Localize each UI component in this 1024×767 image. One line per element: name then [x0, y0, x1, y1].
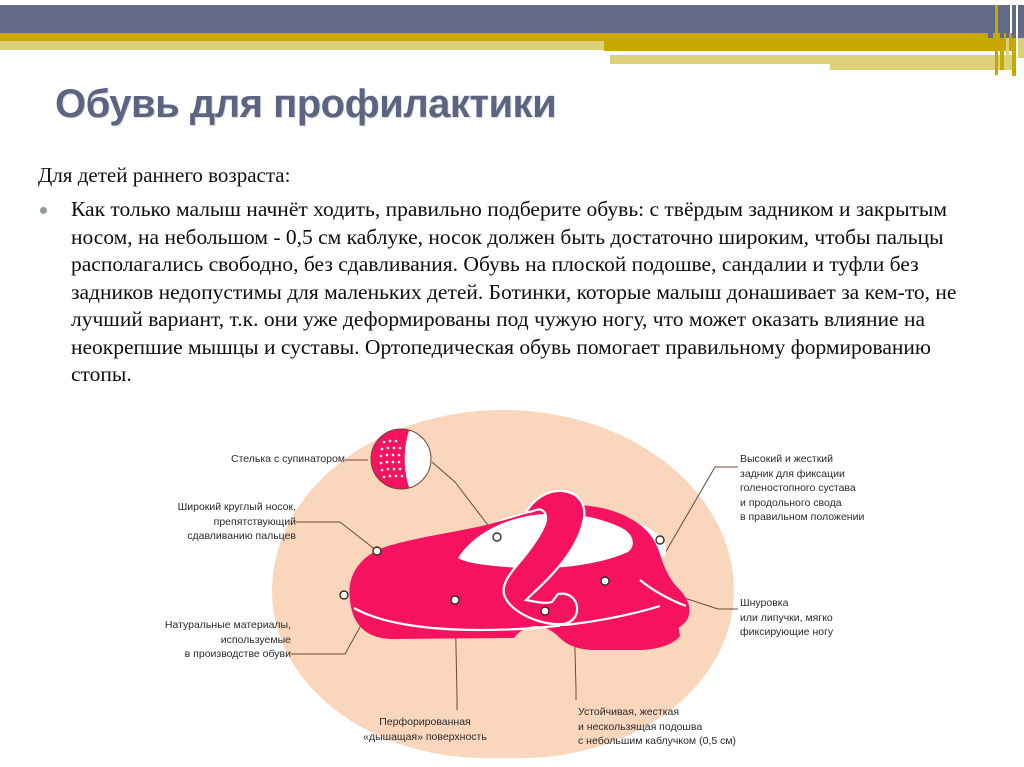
label-materials: Натуральные материалы, используемые в пр… [105, 618, 291, 662]
bullet-marker-icon [40, 207, 47, 214]
stripe-8 [1012, 38, 1016, 76]
label-heel-counter: Высокий и жесткий задник для фиксации го… [740, 452, 990, 525]
stripe-10 [1018, 38, 1024, 58]
label-perforation: Перфорированная «дышащая» поверхность [330, 715, 520, 744]
stripe-3 [1000, 5, 1004, 38]
page-title: Обувь для профилактики [55, 82, 556, 127]
bullet-list: Как только малыш начнёт ходить, правильн… [38, 196, 968, 389]
stripe-5 [1006, 5, 1009, 38]
lead-text: Для детей раннего возраста: [38, 163, 290, 188]
header-gold-light-bar-left [0, 41, 614, 50]
header-gold-light-bar-right [610, 55, 1015, 64]
label-sole: Устойчивая, жесткая и нескользящая подош… [578, 705, 828, 749]
label-fastening: Шнуровка или липучки, мягко фиксирующие … [740, 596, 990, 640]
label-insole: Стелька с супинатором [150, 452, 345, 467]
stripe-9 [1018, 5, 1024, 38]
stripe-6 [1006, 38, 1009, 63]
stripe-2 [995, 5, 998, 75]
bullet-item-text: Как только малыш начнёт ходить, правильн… [71, 196, 968, 389]
header-gold-bar-right [604, 41, 1015, 51]
shoe-illustration [330, 450, 710, 680]
header-decoration [0, 0, 1024, 90]
stripe-1 [988, 5, 993, 38]
stripe-4 [1000, 38, 1004, 70]
shoe-diagram: Стелька с супинатором Широкий круглый но… [0, 400, 1024, 767]
header-vertical-stripes [988, 0, 1024, 78]
stripe-7 [1012, 5, 1016, 38]
header-slate-bar [0, 5, 1010, 33]
label-toe-box: Широкий круглый носок, препятствующий сд… [110, 500, 296, 544]
